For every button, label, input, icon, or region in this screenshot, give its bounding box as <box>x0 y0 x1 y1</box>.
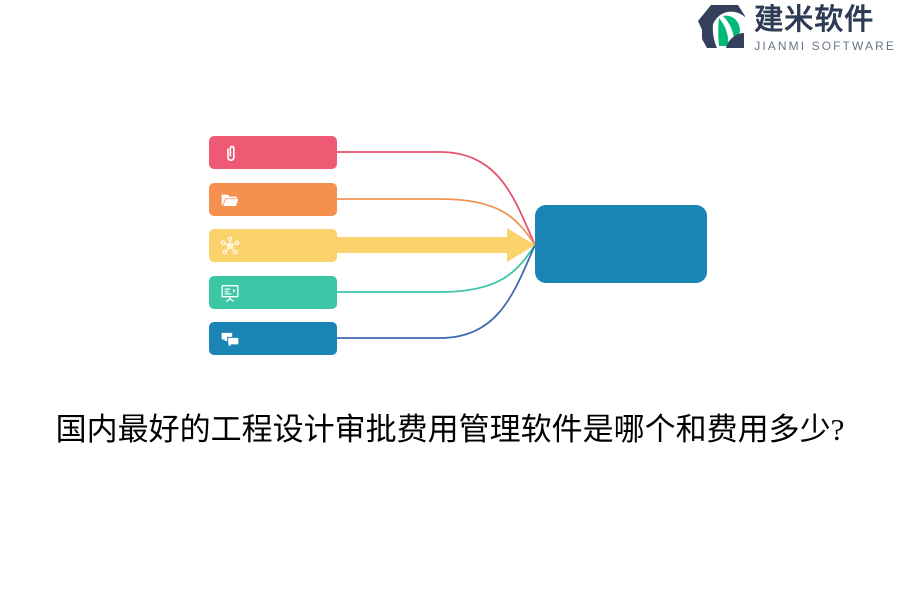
node-bar-2[interactable] <box>209 183 337 216</box>
folder-icon <box>220 190 240 210</box>
chat-bubbles-icon <box>220 329 240 349</box>
hub-node[interactable] <box>535 205 707 283</box>
paperclip-icon <box>220 143 240 163</box>
node-bar-1[interactable] <box>209 136 337 169</box>
connector-arrow-3 <box>337 228 535 262</box>
connector-lines <box>0 0 900 380</box>
presentation-icon <box>220 283 240 303</box>
network-hub-icon <box>220 236 240 256</box>
node-bar-3[interactable] <box>209 229 337 262</box>
node-bar-4[interactable] <box>209 276 337 309</box>
node-bar-5[interactable] <box>209 322 337 355</box>
converging-nodes-diagram <box>0 0 900 380</box>
page-caption: 国内最好的工程设计审批费用管理软件是哪个和费用多少? <box>0 404 900 449</box>
